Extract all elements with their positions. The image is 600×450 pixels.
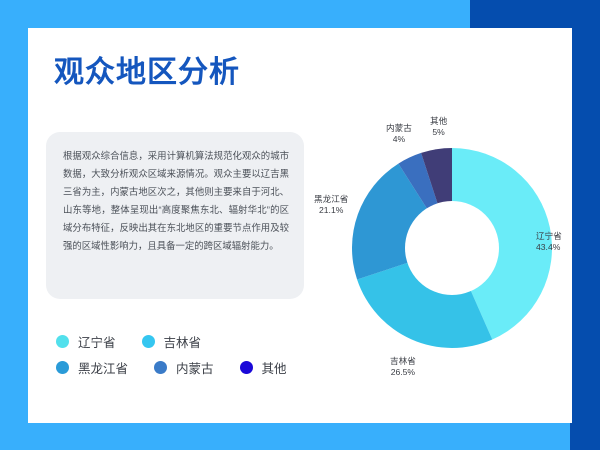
slice-label-name: 辽宁省 bbox=[536, 231, 562, 242]
description-panel: 根据观众综合信息，采用计算机算法规范化观众的城市数据，大致分析观众区域来源情况。… bbox=[46, 132, 304, 299]
legend-item-other[interactable]: 其他 bbox=[240, 358, 287, 377]
slice-label-value: 43.4% bbox=[536, 242, 562, 253]
slice-label-name: 吉林省 bbox=[390, 356, 416, 367]
slice-label-jilin: 吉林省 26.5% bbox=[390, 356, 416, 378]
donut-chart bbox=[352, 148, 552, 348]
legend-item-label: 辽宁省 bbox=[78, 332, 116, 351]
slice-label-value: 26.5% bbox=[390, 367, 416, 378]
legend-item-label: 黑龙江省 bbox=[78, 358, 128, 377]
legend-color-swatch-icon bbox=[56, 361, 69, 374]
slice-label-value: 21.1% bbox=[314, 205, 348, 216]
chart-legend: 辽宁省 吉林省 黑龙江省 内蒙古 其他 bbox=[56, 328, 356, 380]
legend-item-heilongjiang[interactable]: 黑龙江省 bbox=[56, 358, 128, 377]
legend-item-liaoning[interactable]: 辽宁省 bbox=[56, 332, 116, 351]
region-distribution-chart: 辽宁省 43.4% 吉林省 26.5% 黑龙江省 21.1% 内蒙古 4% 其他… bbox=[318, 116, 586, 384]
legend-color-swatch-icon bbox=[56, 335, 69, 348]
legend-item-label: 吉林省 bbox=[164, 332, 202, 351]
legend-item-neimenggu[interactable]: 内蒙古 bbox=[154, 358, 214, 377]
legend-color-swatch-icon bbox=[142, 335, 155, 348]
description-text: 根据观众综合信息，采用计算机算法规范化观众的城市数据，大致分析观众区域来源情况。… bbox=[63, 147, 289, 255]
content-card: 观众地区分析 根据观众综合信息，采用计算机算法规范化观众的城市数据，大致分析观众… bbox=[28, 28, 572, 423]
legend-item-label: 内蒙古 bbox=[176, 358, 214, 377]
slice-label-name: 黑龙江省 bbox=[314, 194, 348, 205]
legend-item-label: 其他 bbox=[262, 358, 287, 377]
slice-label-heilongjiang: 黑龙江省 21.1% bbox=[314, 194, 348, 216]
slice-label-name: 其他 bbox=[430, 116, 447, 127]
slice-label-neimenggu: 内蒙古 4% bbox=[386, 123, 412, 145]
slice-label-value: 4% bbox=[386, 134, 412, 145]
page-title: 观众地区分析 bbox=[54, 58, 240, 88]
legend-color-swatch-icon bbox=[240, 361, 253, 374]
slice-label-other: 其他 5% bbox=[430, 116, 447, 138]
donut-center-hole bbox=[405, 201, 499, 295]
legend-row-1: 辽宁省 吉林省 bbox=[56, 328, 356, 354]
slice-label-value: 5% bbox=[430, 127, 447, 138]
legend-item-jilin[interactable]: 吉林省 bbox=[142, 332, 202, 351]
slice-label-name: 内蒙古 bbox=[386, 123, 412, 134]
slide-root: 观众地区分析 根据观众综合信息，采用计算机算法规范化观众的城市数据，大致分析观众… bbox=[0, 0, 600, 450]
legend-color-swatch-icon bbox=[154, 361, 167, 374]
legend-row-2: 黑龙江省 内蒙古 其他 bbox=[56, 354, 356, 380]
slice-label-liaoning: 辽宁省 43.4% bbox=[536, 231, 562, 253]
background-accent-top bbox=[470, 0, 600, 28]
